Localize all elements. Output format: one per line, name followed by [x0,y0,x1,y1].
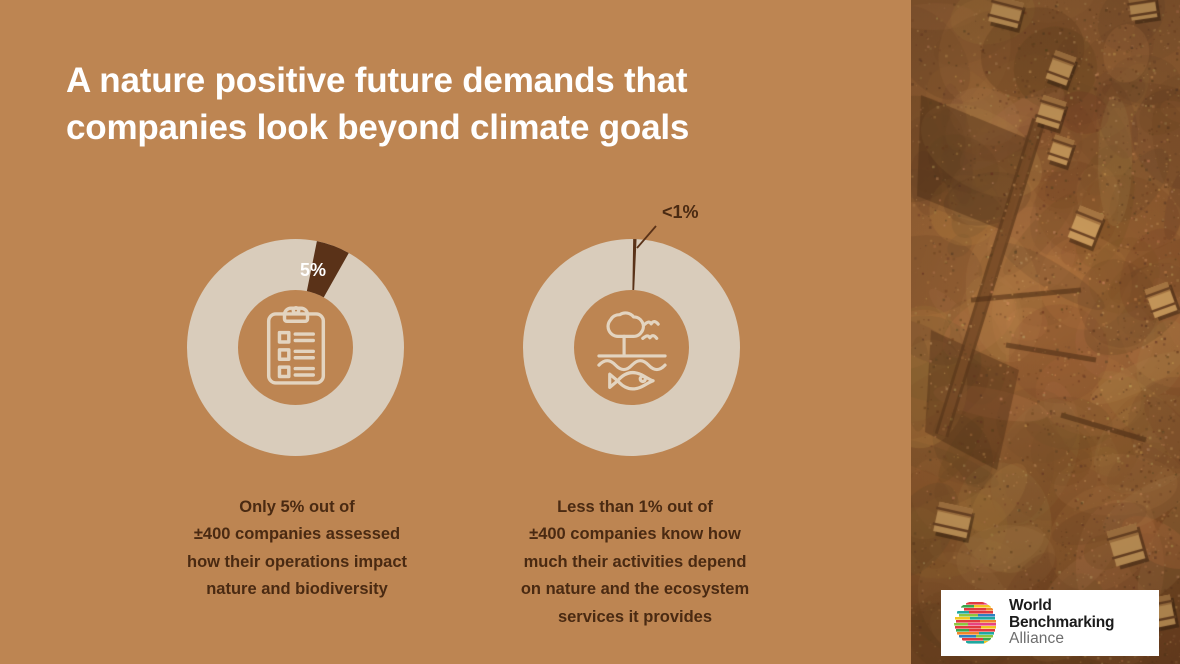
donut-chart-5-percent-svg: 5% [180,228,411,468]
logo-line-1: World [1009,598,1114,614]
caption-line: services it provides [470,604,800,631]
mining-site-photo-canvas [911,0,1180,664]
caption-line: ±400 companies know how [470,521,800,548]
caption-line: Less than 1% out of [470,494,800,521]
donut-chart-less-than-1-percent: <1% [516,228,747,468]
donut-segment-remainder [549,265,715,431]
page-title: A nature positive future demands that co… [66,58,856,152]
mining-site-photo [911,0,1180,664]
caption-line: nature and biodiversity [158,576,436,603]
page-title-line-2: companies look beyond climate goals [66,105,856,152]
infographic-slide: A nature positive future demands that co… [0,0,1180,664]
stat-block-nature-dependency: <1% [516,228,747,468]
world-benchmarking-alliance-logo: World Benchmarking Alliance [941,590,1159,656]
logo-wordmark: World Benchmarking Alliance [1009,598,1114,647]
stat-caption-assessed-impact: Only 5% out of ±400 companies assessed h… [158,494,436,604]
caption-line: how their operations impact [158,549,436,576]
content-panel: A nature positive future demands that co… [0,0,911,664]
donut-chart-less-than-1-percent-svg: <1% [516,228,747,468]
donut-chart-5-percent: 5% [180,228,411,468]
world-benchmarking-alliance-circle-mark [952,599,1000,647]
logo-line-2: Benchmarking [1009,615,1114,631]
caption-line: on nature and the ecosystem [470,576,800,603]
caption-line: Only 5% out of [158,494,436,521]
page-title-line-1: A nature positive future demands that [66,58,856,105]
donut-data-label-5-percent: 5% [300,260,326,280]
stat-block-assessed-impact: 5% [180,228,411,468]
caption-line: ±400 companies assessed [158,521,436,548]
donut-data-label-less-than-1-percent: <1% [662,202,699,222]
donut-segment-remainder [213,265,379,431]
stat-caption-nature-dependency: Less than 1% out of ±400 companies know … [470,494,800,631]
logo-line-3: Alliance [1009,631,1114,647]
caption-line: much their activities depend [470,549,800,576]
